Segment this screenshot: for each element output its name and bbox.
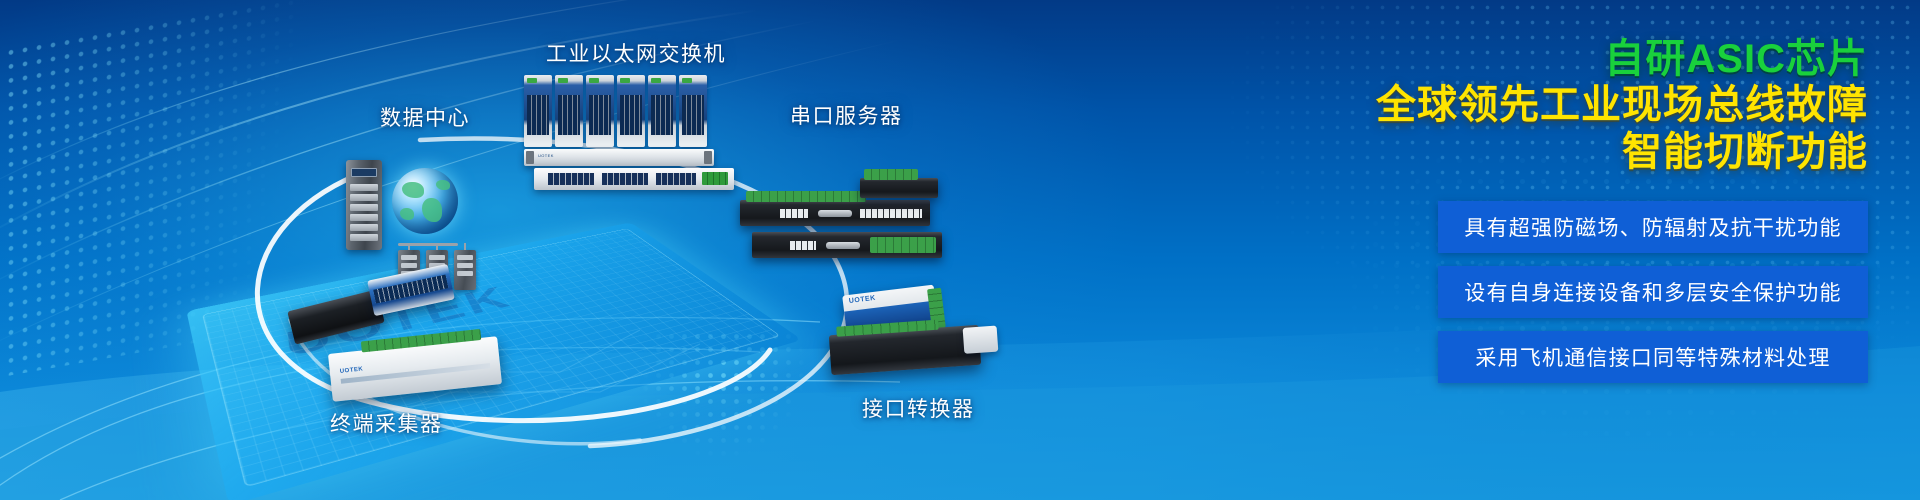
headline-line-3: 智能切断功能	[1048, 129, 1868, 175]
rack-switch-1u-lower	[534, 168, 734, 190]
globe-icon	[392, 168, 458, 234]
rack-switch-1u: UOTEK	[524, 149, 714, 166]
feature-bullet-list: 具有超强防磁场、防辐射及抗干扰功能 设有自身连接设备和多层安全保护功能 采用飞机…	[1048, 201, 1868, 383]
circuit-board-graphic: UOTEK	[186, 222, 802, 500]
converter-brand-label: UOTEK	[848, 295, 876, 305]
dot-grid-left	[0, 0, 320, 379]
headline-group: 自研ASIC芯片 全球领先工业现场总线故障 智能切断功能	[1048, 36, 1868, 175]
server-rack-icon	[346, 160, 382, 250]
headline-line-2: 全球领先工业现场总线故障	[1048, 82, 1868, 128]
feature-bullet-3[interactable]: 采用飞机通信接口同等特殊材料处理	[1438, 331, 1868, 383]
headline-line-1: 自研ASIC芯片	[1048, 36, 1868, 82]
uotek-watermark-logo: UOTEK	[283, 280, 519, 366]
label-terminal-collector: 终端采集器	[330, 408, 443, 438]
promo-copy-block: 自研ASIC芯片 全球领先工业现场总线故障 智能切断功能 具有超强防磁场、防辐射…	[1048, 36, 1868, 383]
terminal-collector-black-module	[287, 289, 384, 344]
feature-bullet-2[interactable]: 设有自身连接设备和多层安全保护功能	[1438, 266, 1868, 318]
terminal-collector-device: UOTEK	[328, 336, 502, 402]
interface-converter-device: UOTEK	[842, 285, 940, 348]
serial-server-unit	[752, 232, 942, 258]
feature-bullet-1[interactable]: 具有超强防磁场、防辐射及抗干扰功能	[1438, 201, 1868, 253]
ethernet-switch-stack: UOTEK	[524, 75, 714, 180]
interface-converter-black-device	[829, 325, 981, 375]
network-orbit-ribbons	[170, 110, 950, 470]
dot-grid-center	[600, 330, 820, 500]
serial-server-unit-small	[860, 178, 938, 198]
promo-banner: UOTEK	[0, 0, 1920, 500]
label-serial-server: 串口服务器	[790, 100, 903, 130]
mini-server-icon	[426, 250, 448, 290]
server-link-bar	[398, 243, 458, 246]
label-interface-converter: 接口转换器	[862, 393, 975, 423]
mini-server-icon	[454, 250, 476, 290]
mini-server-icon	[398, 250, 420, 290]
label-ethernet-switch: 工业以太网交换机	[546, 38, 726, 68]
serial-server-unit	[740, 200, 930, 226]
terminal-collector-blue-module	[367, 264, 455, 316]
switch-brand-label: UOTEK	[538, 153, 554, 158]
label-data-center: 数据中心	[380, 102, 470, 132]
watermark-text: UOTEK	[283, 280, 518, 365]
collector-brand-label: UOTEK	[340, 366, 364, 374]
